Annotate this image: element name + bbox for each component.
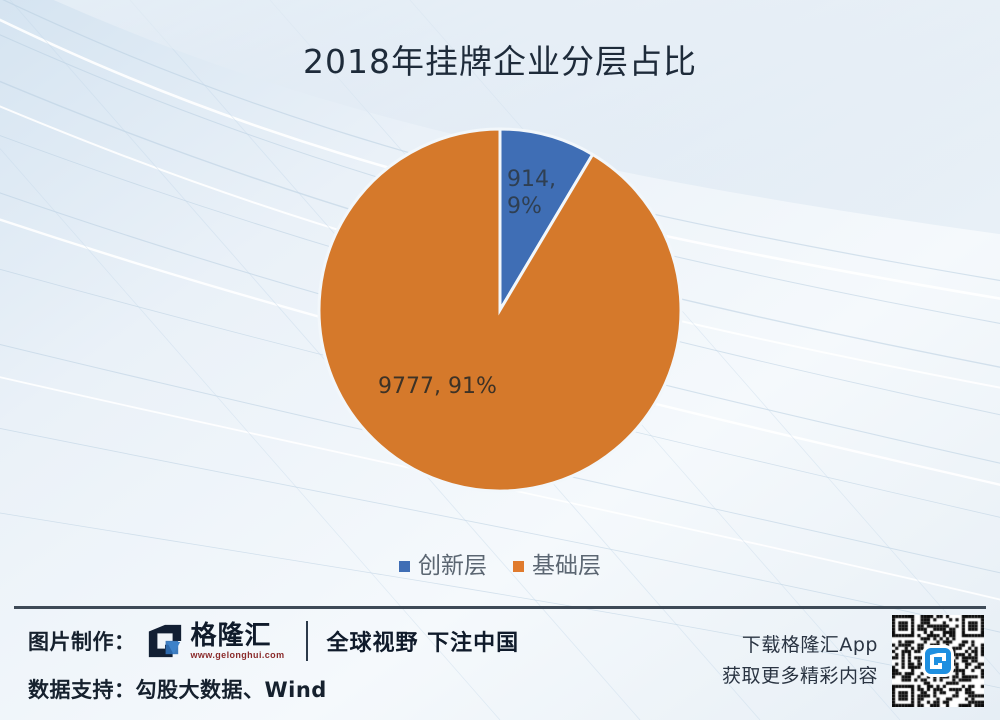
footer-data-label: 数据支持： xyxy=(28,674,136,704)
pie-chart-svg xyxy=(0,0,1000,600)
app-promo-text: 下载格隆汇App 获取更多精彩内容 xyxy=(722,630,878,692)
chart-page: 2018年挂牌企业分层占比 格隆汇 www.gelonghui.com 914,… xyxy=(0,0,1000,720)
app-promo-line-1: 下载格隆汇App xyxy=(722,630,878,661)
footer: 图片制作： 格隆汇 www.gelonghui.com 全球视野 下注中国 xyxy=(0,609,1000,720)
pie-slice[interactable] xyxy=(319,129,681,491)
legend-label-base: 基础层 xyxy=(532,552,601,580)
brand-logo[interactable]: 格隆汇 www.gelonghui.com xyxy=(146,622,285,661)
footer-data-value: 勾股大数据、Wind xyxy=(136,674,327,704)
pie-chart: 914, 9% 9777, 91% xyxy=(0,0,1000,600)
app-promo-line-2: 获取更多精彩内容 xyxy=(722,661,878,692)
brand-url-text: www.gelonghui.com xyxy=(191,650,285,661)
qr-code[interactable] xyxy=(892,615,984,707)
gelonghui-logo-icon xyxy=(146,622,184,660)
qr-center-logo-icon xyxy=(925,648,951,674)
footer-credit-row: 图片制作： 格隆汇 www.gelonghui.com 全球视野 下注中国 xyxy=(28,617,519,665)
brand-slogan-text: 全球视野 下注中国 xyxy=(326,625,519,657)
footer-left: 图片制作： 格隆汇 www.gelonghui.com 全球视野 下注中国 xyxy=(28,617,519,713)
legend-swatch-icon-base xyxy=(513,561,524,572)
legend-item-base[interactable]: 基础层 xyxy=(513,552,601,580)
chart-legend: 创新层 基础层 xyxy=(0,552,1000,580)
legend-swatch-icon-innovation xyxy=(399,561,410,572)
legend-item-innovation[interactable]: 创新层 xyxy=(399,552,487,580)
legend-label-innovation: 创新层 xyxy=(418,552,487,580)
footer-right: 下载格隆汇App 获取更多精彩内容 xyxy=(722,615,984,707)
pie-slice-label-innovation: 914, 9% xyxy=(507,166,567,220)
footer-credit-label: 图片制作： xyxy=(28,626,136,656)
pie-slice-label-base: 9777, 91% xyxy=(378,373,497,400)
footer-vertical-separator xyxy=(306,621,308,661)
brand-name-text: 格隆汇 xyxy=(191,622,285,650)
brand-wordmark: 格隆汇 www.gelonghui.com xyxy=(191,622,285,661)
footer-data-row: 数据支持： 勾股大数据、Wind xyxy=(28,665,519,713)
